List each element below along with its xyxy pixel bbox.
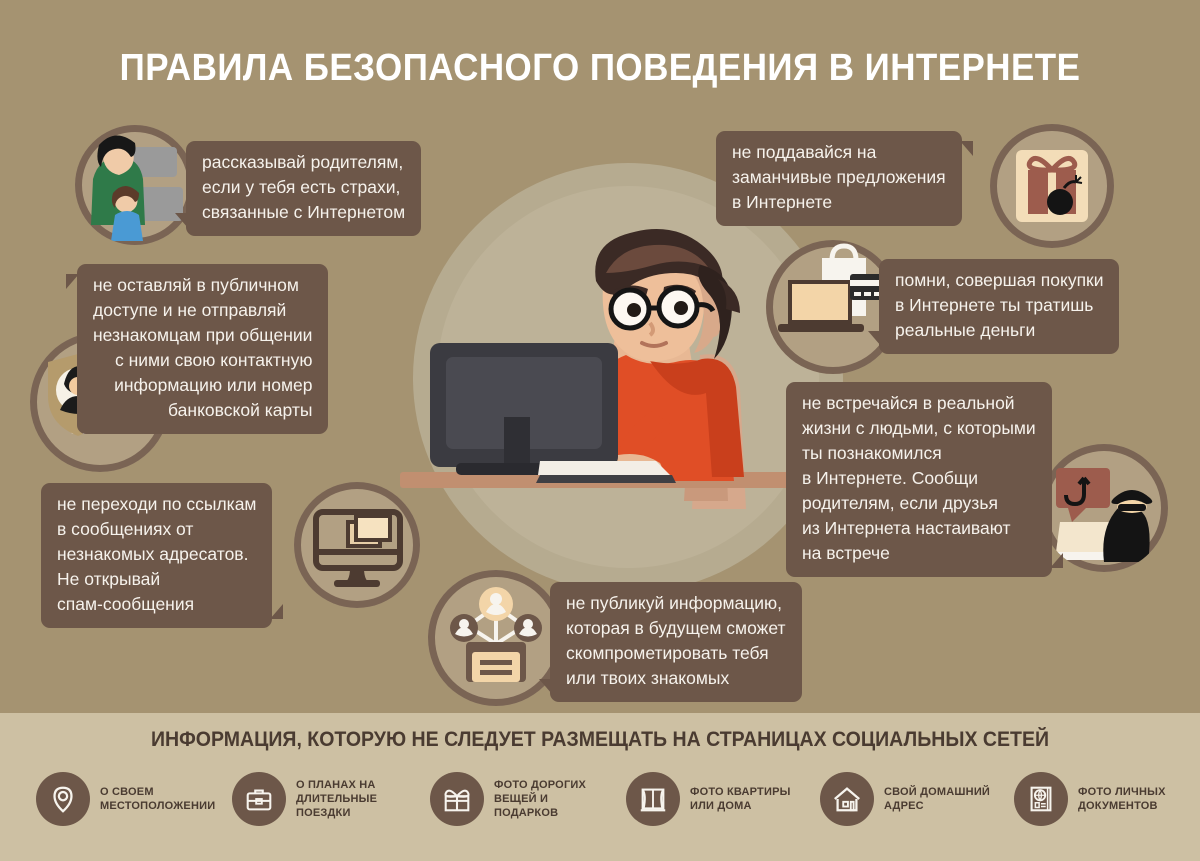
tip-line: не встречайся в реальной (802, 391, 1036, 416)
tip-line: помни, совершая покупки (895, 268, 1103, 293)
location-pin-icon (36, 772, 90, 826)
tip-line: из Интернета настаивают (802, 516, 1036, 541)
tip-line: с ними свою контактную (93, 348, 312, 373)
tip-no-meetings-bubble: не встречайся в реальной жизни с людьми,… (786, 382, 1052, 577)
footer-item-label: О СВОЕМ МЕСТОПОЛОЖЕНИИ (100, 785, 215, 813)
tip-line: жизни с людьми, с которыми (802, 416, 1036, 441)
monitor-spam-icon (294, 482, 420, 608)
tip-real-money-bubble: помни, совершая покупки в Интернете ты т… (879, 259, 1119, 354)
window-icon (626, 772, 680, 826)
tip-spam-links-bubble: не переходи по ссылкам в сообщениях от н… (41, 483, 272, 628)
poster-root: ПРАВИЛА БЕЗОПАСНОГО ПОВЕДЕНИЯ В ИНТЕРНЕТ… (0, 0, 1200, 861)
passport-icon (1014, 772, 1068, 826)
tip-line: или твоих знакомых (566, 666, 786, 691)
page-title: ПРАВИЛА БЕЗОПАСНОГО ПОВЕДЕНИЯ В ИНТЕРНЕТ… (48, 47, 1152, 90)
tip-line: не публикуй информацию, (566, 591, 786, 616)
tip-personal-data-bubble: не оставляй в публичном доступе и не отп… (77, 264, 328, 434)
tip-line: не переходи по ссылкам (57, 492, 256, 517)
tip-line: доступе и не отправляй (93, 298, 312, 323)
house-icon (820, 772, 874, 826)
tip-line: родителям, если друзья (802, 491, 1036, 516)
tip-line: если у тебя есть страхи, (202, 175, 405, 200)
footer-item-documents: ФОТО ЛИЧНЫХ ДОКУМЕНТОВ (1014, 772, 1166, 826)
tip-line: связанные с Интернетом (202, 200, 405, 225)
gift-box-icon (430, 772, 484, 826)
footer-item-label: СВОЙ ДОМАШНИЙ АДРЕС (884, 785, 990, 813)
tip-line: в Интернете (732, 190, 946, 215)
footer-item-gifts: ФОТО ДОРОГИХ ВЕЩЕЙ И ПОДАРКОВ (430, 772, 586, 826)
tip-line: на встрече (802, 541, 1036, 566)
tip-line: в Интернете. Сообщи (802, 466, 1036, 491)
footer-item-home-address: СВОЙ ДОМАШНИЙ АДРЕС (820, 772, 990, 826)
tip-line: рассказывай родителям, (202, 150, 405, 175)
tip-line: не поддавайся на (732, 140, 946, 165)
tip-line: заманчивые предложения (732, 165, 946, 190)
tip-line: незнакомцам при общении (93, 323, 312, 348)
tip-line: реальные деньги (895, 318, 1103, 343)
tip-tell-parents-bubble: рассказывай родителям, если у тебя есть … (186, 141, 421, 236)
tip-line: в Интернете ты тратишь (895, 293, 1103, 318)
footer-item-location: О СВОЕМ МЕСТОПОЛОЖЕНИИ (36, 772, 215, 826)
footer-item-label: ФОТО ЛИЧНЫХ ДОКУМЕНТОВ (1078, 785, 1166, 813)
gift-bomb-icon (990, 124, 1114, 248)
footer-item-trips: О ПЛАНАХ НА ДЛИТЕЛЬНЫЕ ПОЕЗДКИ (232, 772, 377, 826)
tip-line: Не открывай (57, 567, 256, 592)
footer-item-label: О ПЛАНАХ НА ДЛИТЕЛЬНЫЕ ПОЕЗДКИ (296, 778, 377, 820)
tip-line: которая в будущем сможет (566, 616, 786, 641)
tip-line: в сообщениях от (57, 517, 256, 542)
tip-dont-publish-bubble: не публикуй информацию, которая в будуще… (550, 582, 802, 702)
tip-line: не оставляй в публичном (93, 273, 312, 298)
tip-line: информацию или номер (93, 373, 312, 398)
tip-line: спам-сообщения (57, 592, 256, 617)
tip-line: незнакомых адресатов. (57, 542, 256, 567)
footer-item-label: ФОТО ДОРОГИХ ВЕЩЕЙ И ПОДАРКОВ (494, 778, 586, 820)
tip-line: банковской карты (93, 398, 312, 423)
tip-tempting-offers-bubble: не поддавайся на заманчивые предложения … (716, 131, 962, 226)
footer-item-apartment: ФОТО КВАРТИРЫ ИЛИ ДОМА (626, 772, 791, 826)
footer-title: ИНФОРМАЦИЯ, КОТОРУЮ НЕ СЛЕДУЕТ РАЗМЕЩАТЬ… (42, 728, 1158, 752)
footer-item-label: ФОТО КВАРТИРЫ ИЛИ ДОМА (690, 785, 791, 813)
tip-line: скомпрометировать тебя (566, 641, 786, 666)
briefcase-icon (232, 772, 286, 826)
tip-line: ты познакомился (802, 441, 1036, 466)
footer-items: О СВОЕМ МЕСТОПОЛОЖЕНИИ О ПЛАНАХ НА ДЛИТЕ… (0, 772, 1200, 852)
illustration-teenager-at-computer (400, 225, 820, 515)
